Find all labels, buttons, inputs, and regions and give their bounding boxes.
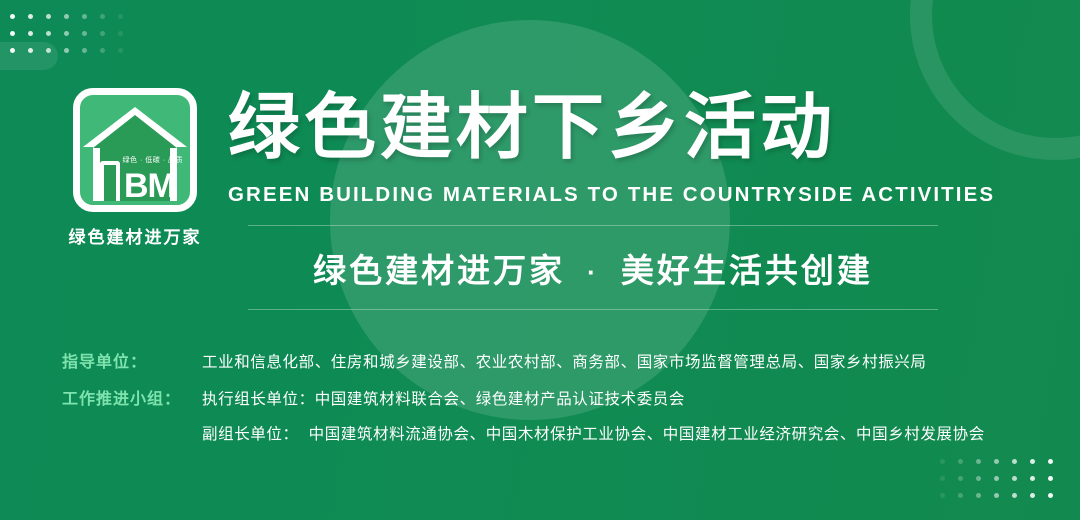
slogan-right: 美好生活共创建 <box>621 252 873 289</box>
promotional-banner: 绿色 · 低碳 · 品质 BM 绿色建材进万家 绿色建材下乡活动 GREEN B… <box>0 0 1080 520</box>
credit-row: 指导单位： 工业和信息化部、住房和城乡建设部、农业农村部、商务部、国家市场监督管… <box>62 348 1042 372</box>
divider-bottom <box>248 309 938 310</box>
decorative-dot-grid-bottom-right <box>938 453 1064 504</box>
credit-sub-label: 副组长单位： <box>202 422 299 444</box>
logo-tagline: 绿色 · 低碳 · 品质 <box>123 155 183 165</box>
logo-house-icon: 绿色 · 低碳 · 品质 BM <box>73 88 197 212</box>
credit-value: 工业和信息化部、住房和城乡建设部、农业农村部、商务部、国家市场监督管理总局、国家… <box>202 350 927 372</box>
logo-caption: 绿色建材进万家 <box>60 223 210 248</box>
credit-sub-value: 中国建筑材料流通协会、中国木材保护工业协会、中国建材工业经济研究会、中国乡村发展… <box>309 422 985 444</box>
credit-label: 工作推进小组： <box>62 385 202 409</box>
slogan-left: 绿色建材进万家 <box>313 252 565 289</box>
brand-logo: 绿色 · 低碳 · 品质 BM 绿色建材进万家 <box>60 88 210 248</box>
logo-monogram: BM <box>124 169 175 203</box>
credit-row: 工作推进小组： 执行组长单位：中国建筑材料联合会、绿色建材产品认证技术委员会 <box>62 385 1042 409</box>
credit-sub-row: 副组长单位： 中国建筑材料流通协会、中国木材保护工业协会、中国建材工业经济研究会… <box>62 422 1042 444</box>
page-title: 绿色建材下乡活动 <box>228 88 968 169</box>
slogan-separator: · <box>565 257 621 287</box>
credit-value: 执行组长单位：中国建筑材料联合会、绿色建材产品认证技术委员会 <box>202 387 685 409</box>
logo-door-icon <box>100 161 120 201</box>
slogan-row: 绿色建材进万家·美好生活共创建 <box>248 226 938 309</box>
credit-label: 指导单位： <box>62 348 202 372</box>
decorative-dot-grid-top-left <box>8 8 134 59</box>
headline-block: 绿色建材下乡活动 GREEN BUILDING MATERIALS TO THE… <box>228 88 968 310</box>
english-subtitle: GREEN BUILDING MATERIALS TO THE COUNTRYS… <box>228 183 968 207</box>
credits-section: 指导单位： 工业和信息化部、住房和城乡建设部、农业农村部、商务部、国家市场监督管… <box>62 348 1042 453</box>
logo-roof-inner <box>93 115 177 148</box>
